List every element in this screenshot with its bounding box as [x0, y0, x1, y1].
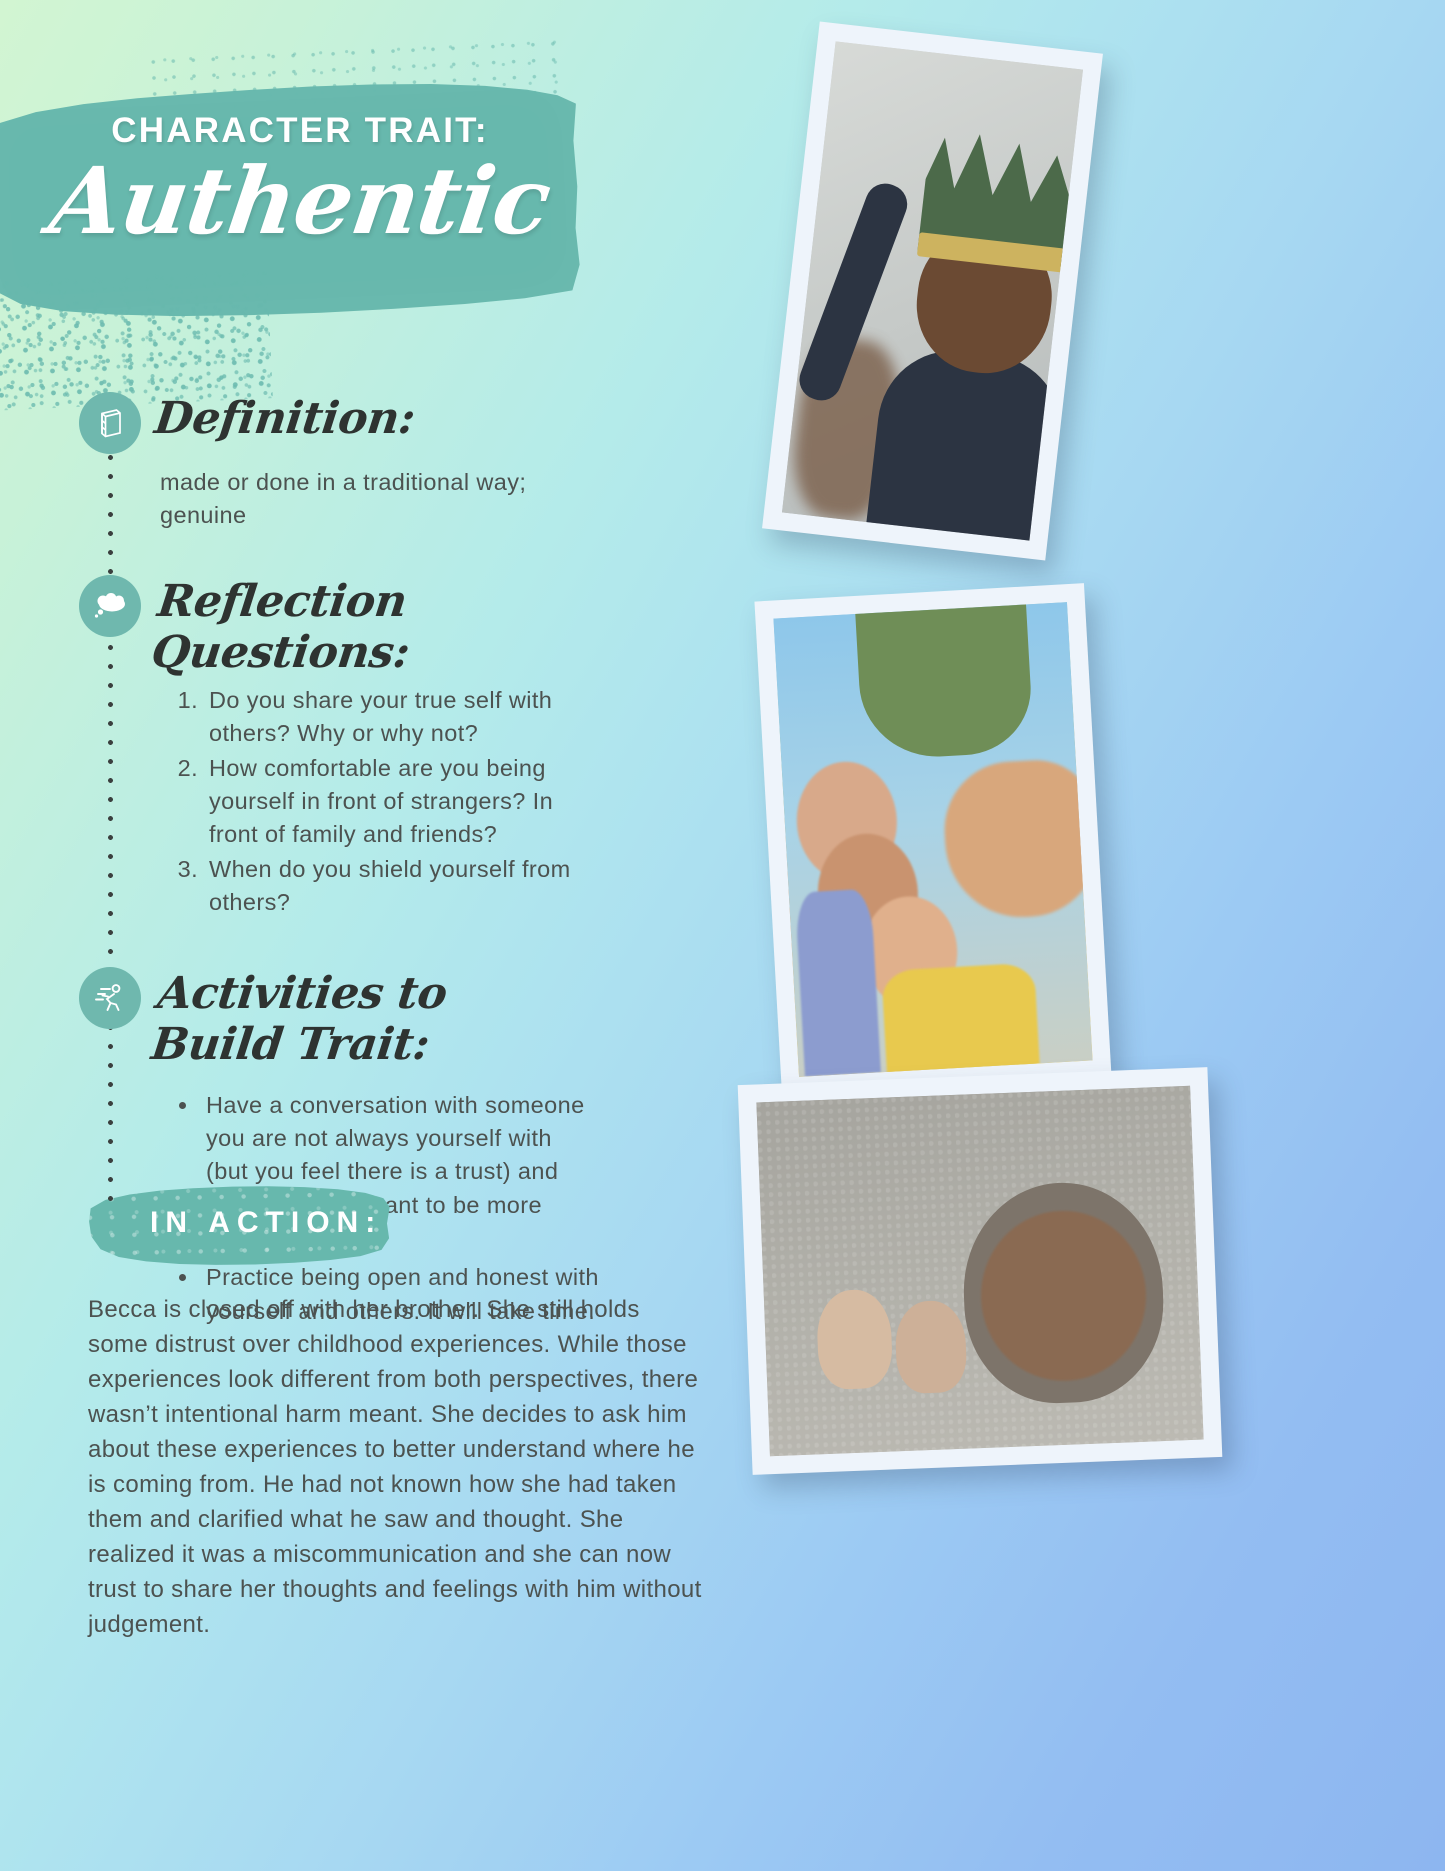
photo-image-area	[782, 41, 1083, 540]
definition-title: Definition:	[152, 392, 418, 445]
thought-bubble-icon	[79, 575, 141, 637]
reflection-title: Reflection Questions:	[149, 575, 582, 678]
character-trait-kicker: CHARACTER TRAIT:	[0, 111, 600, 151]
activities-title: Activities to Build Trait:	[149, 967, 582, 1070]
in-action-story-text: Becca is closed off with her brother. Sh…	[88, 1292, 703, 1642]
photo-image-area	[756, 1086, 1203, 1456]
running-person-icon	[79, 967, 141, 1029]
photo-purple-shirt	[795, 889, 882, 1077]
list-item: When do you shield yourself from others?	[205, 853, 605, 920]
in-action-section: IN ACTION: Becca is closed off with her …	[88, 1184, 728, 1642]
list-item: Do you share your true self with others?…	[205, 684, 605, 751]
photo-bare-foot	[894, 1300, 967, 1395]
photo-image-area	[773, 602, 1092, 1077]
dotted-timeline-connector	[108, 448, 113, 1210]
header-banner: CHARACTER TRAIT: Authentic	[0, 55, 620, 365]
photo-feet-in-sand	[738, 1067, 1223, 1475]
reflection-questions-list: Do you share your true self with others?…	[205, 684, 605, 920]
trait-name-script: Authentic	[0, 155, 607, 249]
book-icon	[79, 392, 141, 454]
definition-text: made or done in a traditional way; genui…	[160, 466, 590, 533]
photo-friends-huddle	[754, 583, 1111, 1096]
header-text-group: CHARACTER TRAIT: Authentic	[0, 111, 600, 249]
in-action-label: IN ACTION:	[150, 1206, 382, 1240]
brush-spray-texture	[0, 268, 273, 411]
list-item: How comfortable are you being yourself i…	[205, 752, 605, 852]
definition-header: Definition:	[0, 392, 720, 454]
photo-child-with-crown	[762, 22, 1103, 561]
photo-yellow-shirt	[881, 963, 1041, 1077]
